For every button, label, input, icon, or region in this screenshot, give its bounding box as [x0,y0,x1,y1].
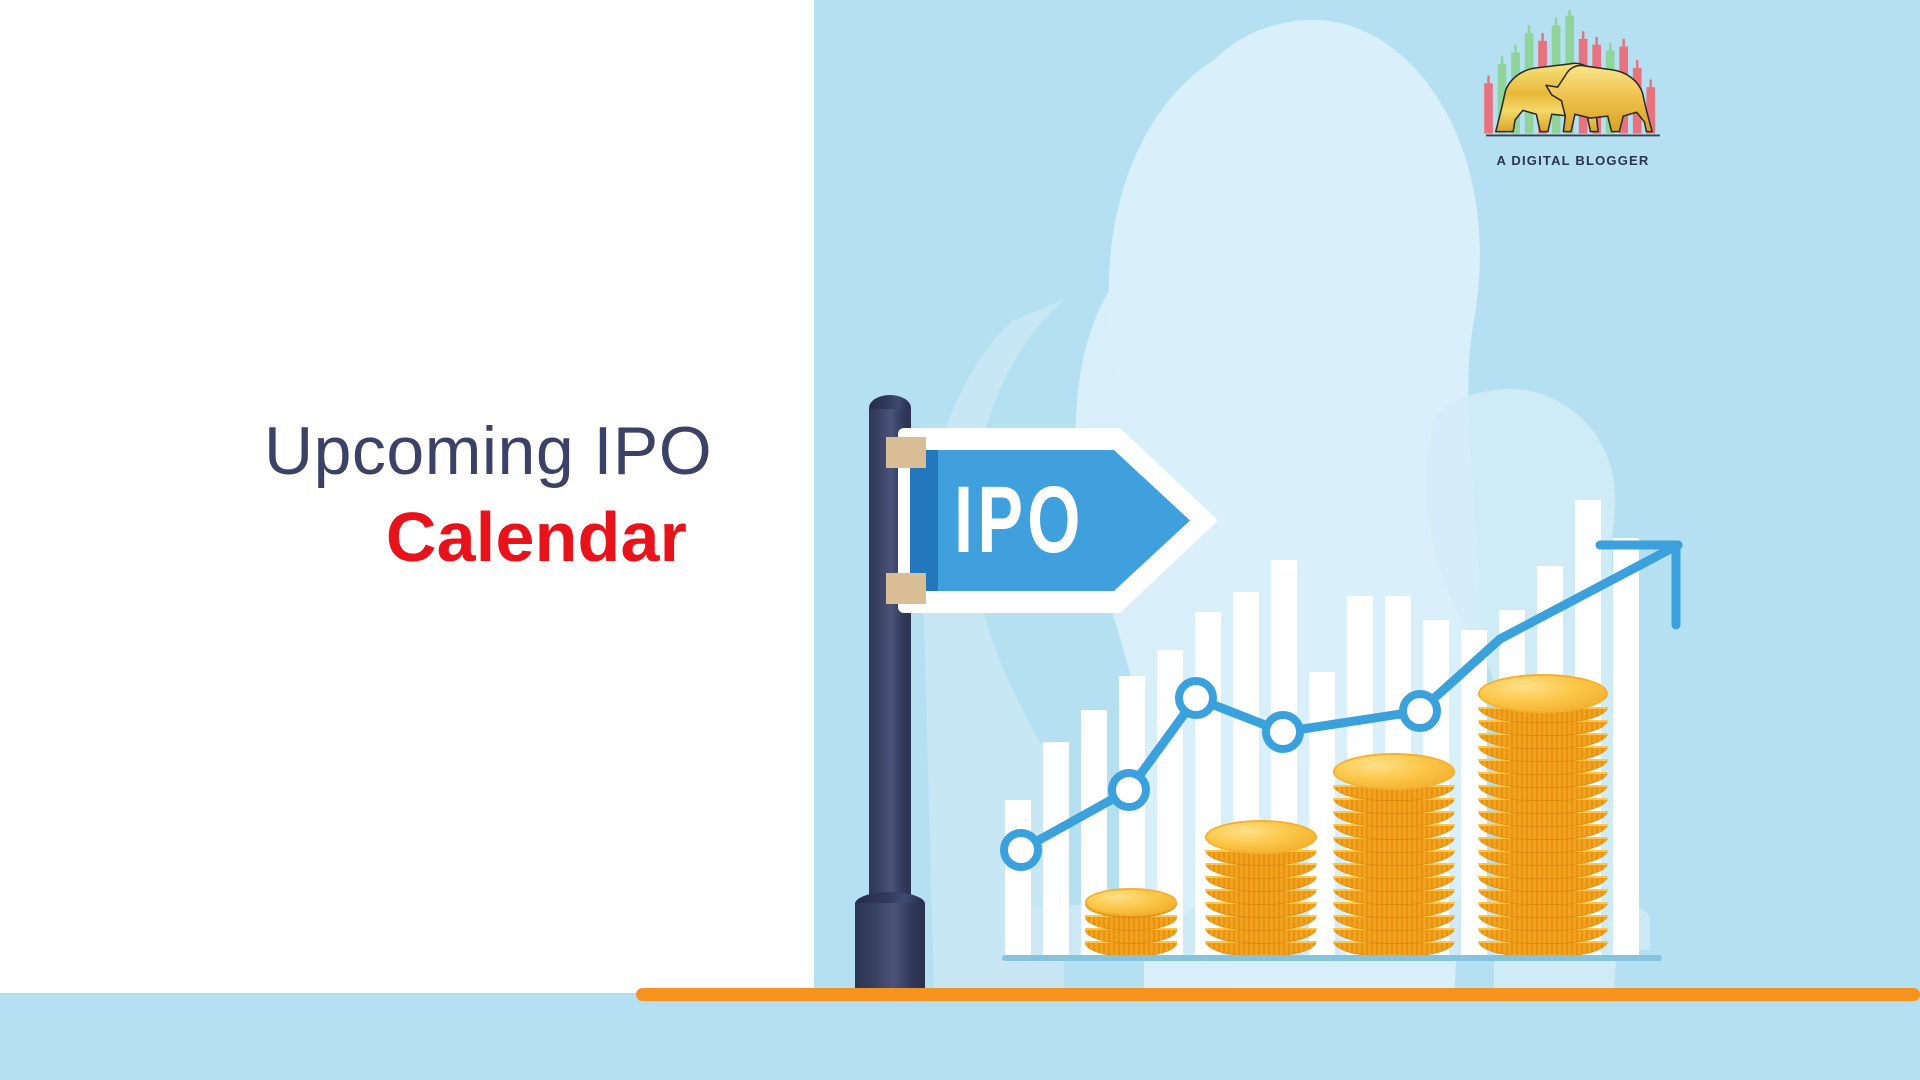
coin-stack-top [1205,820,1317,854]
coin-stack-top [1478,674,1608,713]
trend-point-marker [1266,715,1300,749]
orange-divider-rule [636,988,1920,1001]
trend-arrow-shaft [1500,545,1678,639]
coin-stack [1205,820,1317,973]
bottom-band [0,993,1920,1080]
coin-stack [1478,674,1608,976]
signpost-base [855,903,925,993]
sign-blue-shadow [910,450,938,591]
trend-point-marker [1179,681,1213,715]
coin-stack-top [1085,888,1177,916]
trend-point-marker [1112,773,1146,807]
ipo-direction-sign[interactable]: IPO [898,428,1218,613]
sign-bracket-bottom-icon [886,573,926,604]
sign-label: IPO [954,460,1098,580]
trend-point-marker [1403,694,1437,728]
coin-stack-top [1333,753,1455,790]
coin-stack [1333,753,1455,974]
chart-baseline [1002,955,1662,961]
sign-bracket-top-icon [886,437,926,468]
trend-point-marker [1004,833,1038,867]
poster-canvas: Upcoming IPO Calendar A DIGITAL BLOG [0,0,1920,1080]
